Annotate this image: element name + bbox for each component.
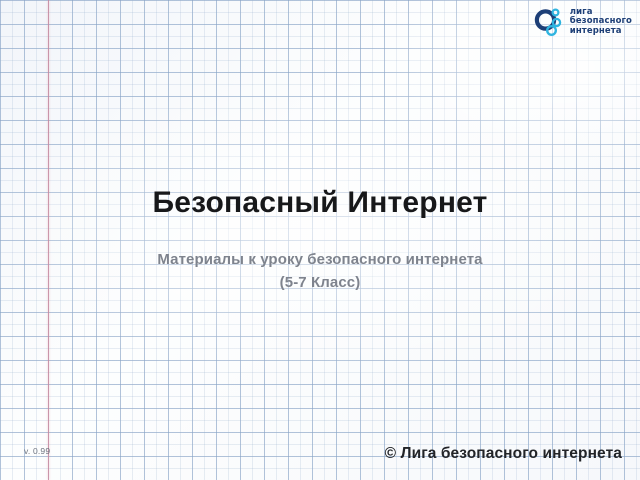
title-block: Безопасный Интернет xyxy=(0,186,640,220)
slide-canvas: лига безопасного интернета Безопасный Ин… xyxy=(0,0,640,480)
brand-logo-text: лига безопасного интернета xyxy=(570,8,632,37)
slide-subtitle-line-2: (5-7 Класс) xyxy=(0,271,640,294)
paper-haze-overlay xyxy=(0,0,640,480)
version-label: v. 0.99 xyxy=(24,446,50,456)
brand-logo: лига безопасного интернета xyxy=(533,6,632,38)
copyright-label: © Лига безопасного интернета xyxy=(385,445,622,463)
subtitle-block: Материалы к уроку безопасного интернета … xyxy=(0,248,640,294)
paper-margin-rule xyxy=(48,0,49,480)
brand-logo-line-3: интернета xyxy=(570,27,632,37)
liga-bezopasnogo-interneta-circles-icon xyxy=(533,6,565,38)
slide-title: Безопасный Интернет xyxy=(0,186,640,220)
slide-subtitle-line-1: Материалы к уроку безопасного интернета xyxy=(0,248,640,271)
